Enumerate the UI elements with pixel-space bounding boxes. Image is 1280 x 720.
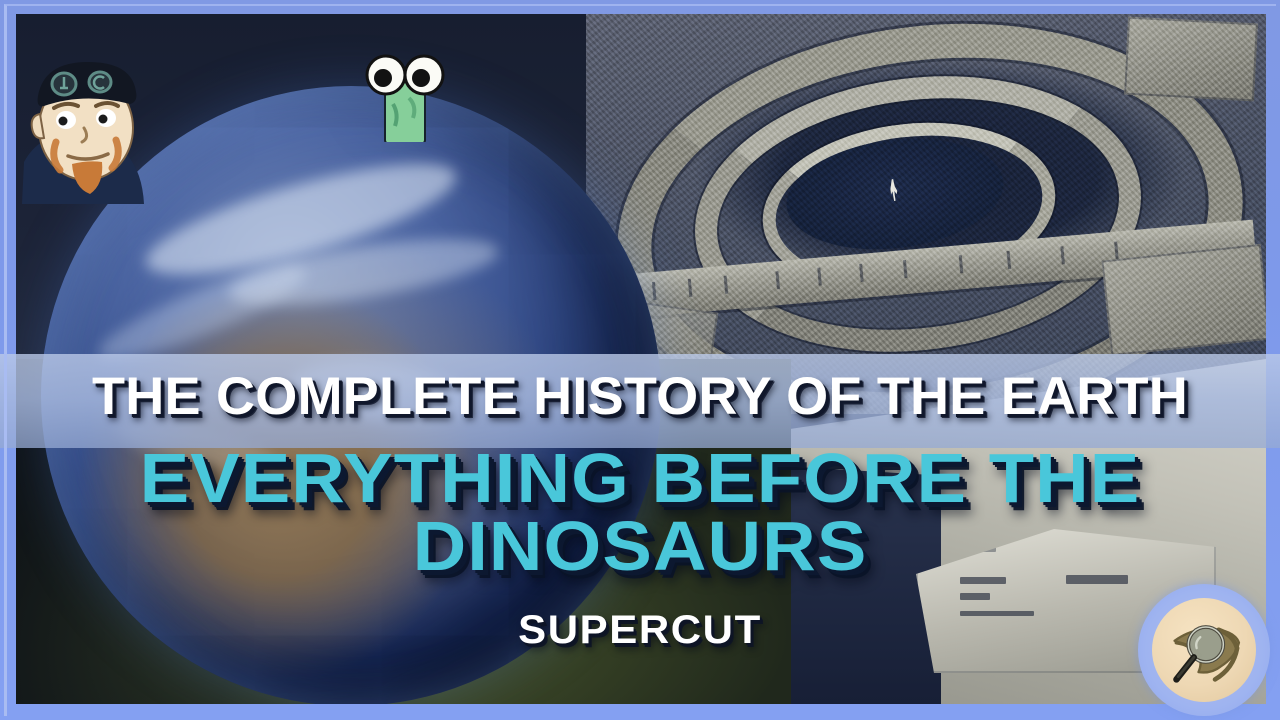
subtitle-line-1: EVERYTHING BEFORE THE bbox=[0, 446, 1280, 510]
channel-logo-disc bbox=[1152, 598, 1256, 702]
video-thumbnail: THE COMPLETE HISTORY OF THE EARTH EVERYT… bbox=[0, 0, 1280, 720]
main-title: THE COMPLETE HISTORY OF THE EARTH bbox=[0, 366, 1280, 427]
tagline-supercut: SUPERCUT bbox=[0, 608, 1280, 653]
subtitle-block: EVERYTHING BEFORE THE DINOSAURS bbox=[0, 446, 1280, 579]
subtitle-line-2: DINOSAURS bbox=[0, 514, 1280, 578]
green-creature-avatar bbox=[355, 52, 455, 142]
host-cartoon-avatar bbox=[16, 44, 166, 214]
magnifier-pickaxe-icon bbox=[1158, 604, 1250, 696]
channel-logo-badge bbox=[1138, 584, 1270, 716]
